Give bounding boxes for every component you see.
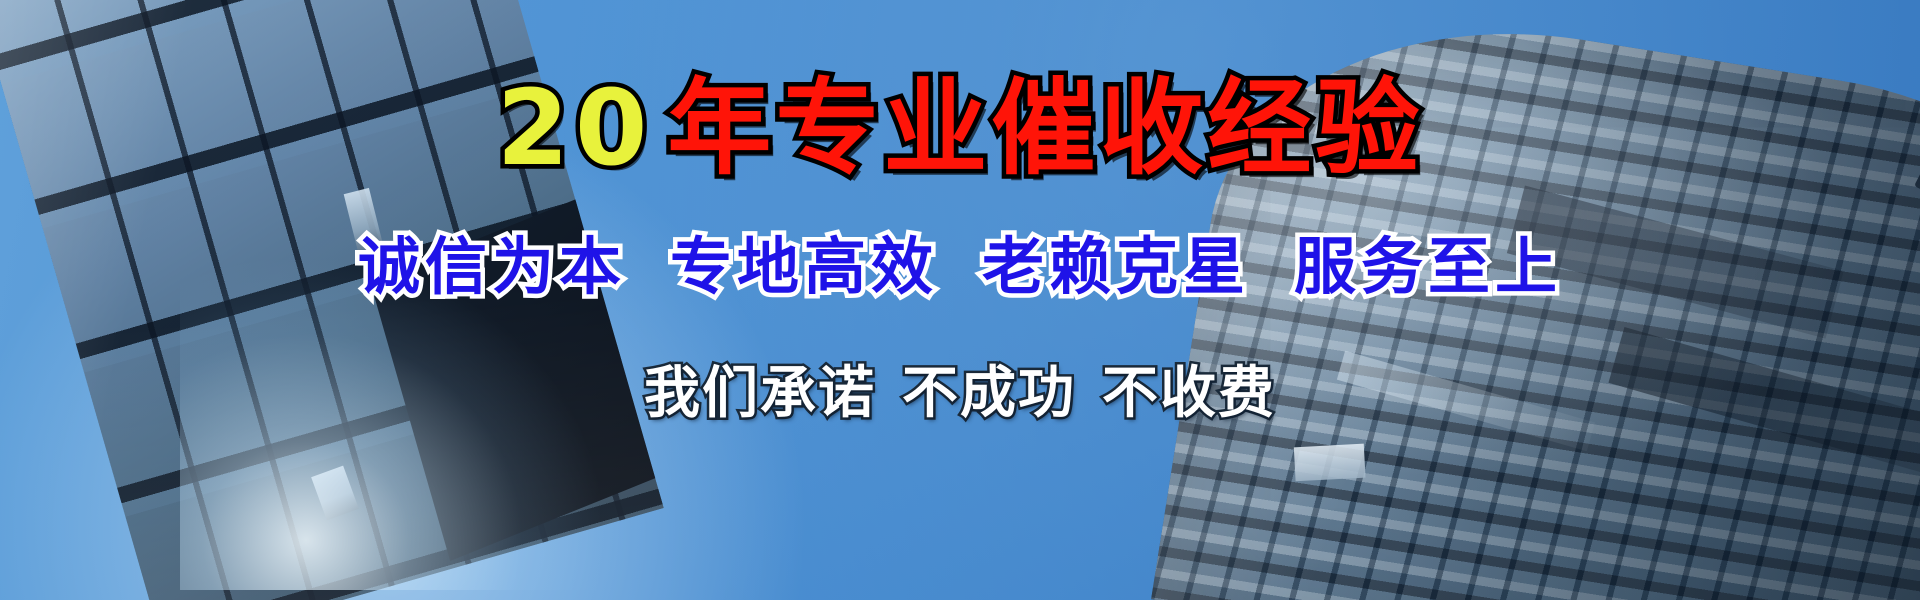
slogan-item-4: 服务至上: [1294, 216, 1562, 306]
promise-item-3: 不收费: [1102, 348, 1276, 429]
slogan-line: 诚信为本 专地高效 老赖克星 服务至上: [358, 216, 1562, 306]
promise-line: 我们承诺 不成功 不收费: [644, 348, 1276, 429]
banner-content: 20 年专业催收经验 诚信为本 专地高效 老赖克星 服务至上 我们承诺 不成功 …: [0, 0, 1920, 600]
headline: 20 年专业催收经验: [497, 76, 1424, 180]
headline-main-text: 年专业催收经验: [667, 76, 1423, 180]
promo-banner: 20 年专业催收经验 诚信为本 专地高效 老赖克星 服务至上 我们承诺 不成功 …: [0, 0, 1920, 600]
headline-years-number: 20: [497, 76, 654, 180]
slogan-item-2: 专地高效: [670, 216, 938, 306]
promise-item-1: 我们承诺: [644, 348, 876, 429]
slogan-item-1: 诚信为本: [358, 216, 626, 306]
slogan-item-3: 老赖克星: [982, 216, 1250, 306]
promise-item-2: 不成功: [902, 348, 1076, 429]
